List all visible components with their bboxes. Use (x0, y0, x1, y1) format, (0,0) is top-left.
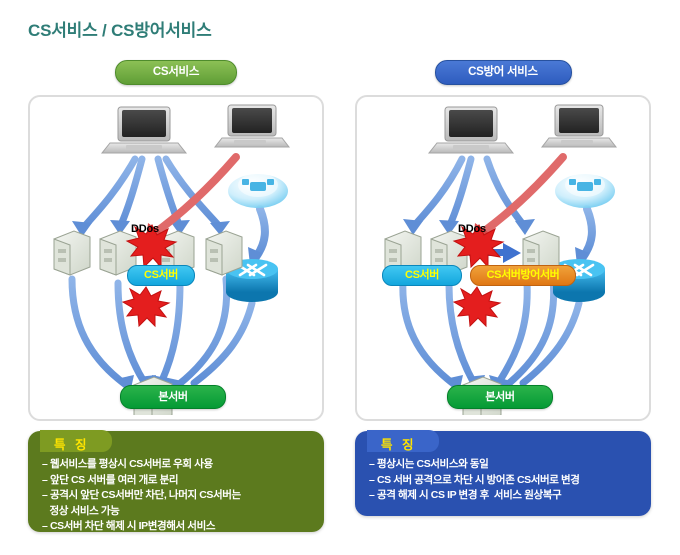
right-diagram-svg (357, 97, 649, 415)
list-item: – 공격 해제 시 CS IP 변경 후 서비스 원상복구 (369, 488, 643, 504)
laptop-icon-1 (102, 107, 186, 153)
right-column: CS방어 서비스 (355, 60, 651, 421)
list-item: – 공격시 앞단 CS서버만 차단, 나머지 CS서버는 (42, 488, 316, 504)
left-cs-server-label: CS서버 (127, 265, 195, 286)
left-column: CS서비스 (28, 60, 324, 421)
list-item: – CS 서버 공격으로 차단 시 방어존 CS서버로 변경 (369, 473, 643, 489)
right-defense-server-label: CS서버방어서버 (470, 265, 576, 286)
cloud-icon (555, 173, 615, 208)
left-features-list: – 웹서비스를 평상시 CS서버로 우회 사용 – 앞단 CS 서버를 여러 개… (42, 457, 316, 535)
server-icon (206, 231, 242, 275)
cloud-to-router-arrow (575, 209, 592, 265)
left-features-box: 특 징 – 웹서비스를 평상시 CS서버로 우회 사용 – 앞단 CS 서버를 … (28, 431, 324, 532)
attack-burst-icon-bottom (454, 287, 500, 326)
right-features-list: – 평상시는 CS서비스와 동일 – CS 서버 공격으로 차단 시 방어존 C… (369, 457, 643, 504)
list-item: – 앞단 CS 서버를 여러 개로 분리 (42, 473, 316, 489)
cloud-icon (228, 173, 288, 208)
laptop-icon-2 (215, 105, 289, 147)
right-ddos-label: DDos (458, 223, 486, 235)
laptop-icon-2 (542, 105, 616, 147)
list-item: 정상 서비스 가능 (42, 504, 316, 520)
list-item: – 웹서비스를 평상시 CS서버로 우회 사용 (42, 457, 316, 473)
left-panel-heading: CS서비스 (115, 60, 237, 85)
left-features-heading: 특 징 (54, 434, 89, 453)
attack-burst-icon-bottom (123, 287, 169, 326)
right-features-heading: 특 징 (381, 434, 416, 453)
left-ddos-label: DDos (131, 223, 159, 235)
list-item: – CS서버 차단 해제 시 IP변경해서 서비스 (42, 519, 316, 535)
left-diagram-panel: DDos CS서버 본서버 (28, 95, 324, 421)
right-panel-heading: CS방어 서비스 (435, 60, 572, 85)
server-icon (54, 231, 90, 275)
laptop-icon-1 (429, 107, 513, 153)
right-features-box: 특 징 – 평상시는 CS서비스와 동일 – CS 서버 공격으로 차단 시 방… (355, 431, 651, 516)
right-diagram-panel: DDos CS서버 CS서버방어서버 본서버 (355, 95, 651, 421)
cloud-to-router-arrow (248, 209, 265, 265)
left-diagram-svg (30, 97, 322, 415)
page-title: CS서비스 / CS방어서비스 (28, 16, 212, 41)
right-cs-server-label: CS서버 (382, 265, 462, 286)
right-main-server-label: 본서버 (447, 385, 553, 409)
list-item: – 평상시는 CS서비스와 동일 (369, 457, 643, 473)
attack-arrow (473, 157, 563, 243)
left-main-server-label: 본서버 (120, 385, 226, 409)
